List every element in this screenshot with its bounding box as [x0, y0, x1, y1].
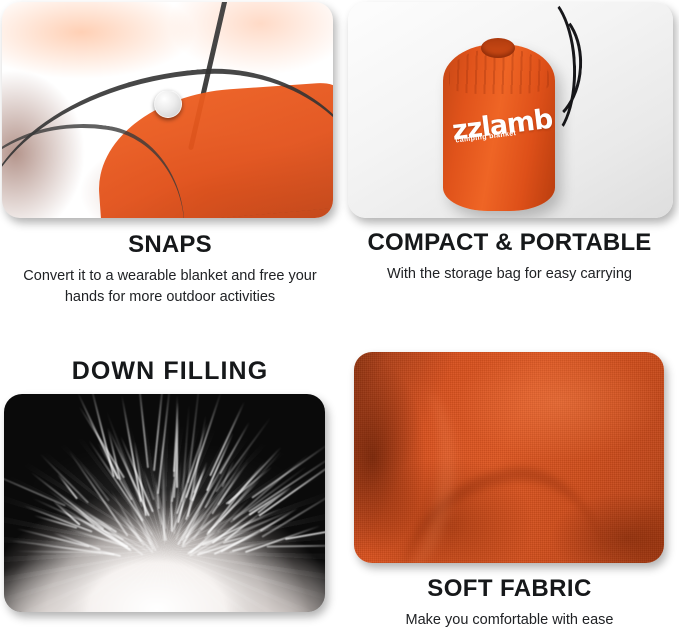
down-image-card	[4, 394, 325, 612]
snaps-caption: SNAPS Convert it to a wearable blanket a…	[0, 232, 340, 308]
compact-caption: COMPACT & PORTABLE With the storage bag …	[340, 230, 679, 285]
snaps-subtext: Convert it to a wearable blanket and fre…	[0, 266, 340, 307]
feature-panel-down: DOWN FILLING	[0, 320, 340, 640]
snaps-image-card	[2, 2, 333, 218]
feather-wisp	[15, 550, 101, 553]
soft-subtext: Make you comfortable with ease	[340, 610, 679, 631]
feature-panel-soft: SOFT FABRIC Make you comfortable with ea…	[340, 320, 679, 640]
soft-heading: SOFT FABRIC	[340, 576, 679, 602]
feather-wisp	[137, 394, 149, 468]
snap-button-icon	[154, 90, 182, 118]
feature-panel-compact: zzlamb camping blanket COMPACT & PORTABL…	[340, 0, 679, 320]
bag-cinch-top	[481, 38, 515, 58]
feather-wisps	[4, 394, 325, 612]
feature-grid: SNAPS Convert it to a wearable blanket a…	[0, 0, 679, 640]
down-caption: DOWN FILLING	[0, 358, 340, 386]
feather-wisp	[185, 394, 222, 498]
feather-wisp	[245, 524, 321, 552]
feature-panel-snaps: SNAPS Convert it to a wearable blanket a…	[0, 0, 340, 320]
feather-wisp	[267, 545, 325, 548]
compact-image-card: zzlamb camping blanket	[348, 2, 673, 218]
down-heading: DOWN FILLING	[0, 358, 340, 386]
soft-image-card	[354, 352, 664, 563]
soft-caption: SOFT FABRIC Make you comfortable with ea…	[340, 576, 679, 631]
snaps-heading: SNAPS	[0, 232, 340, 258]
compact-heading: COMPACT & PORTABLE	[340, 230, 679, 256]
storage-bag	[443, 44, 555, 211]
compact-subtext: With the storage bag for easy carrying	[340, 264, 679, 285]
